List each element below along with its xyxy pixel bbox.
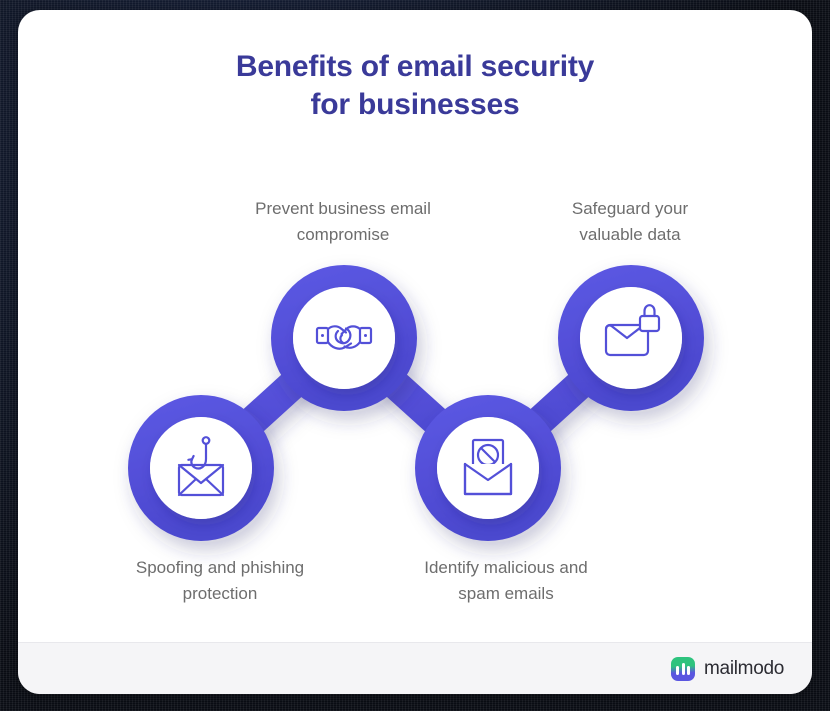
page-title-line-1: Benefits of email security [18, 48, 812, 86]
node-label-identify-malicious-and-spam-emails: Identify malicious and spam emails [376, 555, 636, 606]
node-label-line-1: Safeguard your [500, 196, 760, 222]
node-label-line-1: Prevent business email [213, 196, 473, 222]
brand-name: mailmodo [704, 658, 784, 680]
node-label-safeguard-your-valuable-data: Safeguard your valuable data [500, 196, 760, 247]
node-label-line-1: Spoofing and phishing [90, 555, 350, 581]
logo-bar-2 [682, 663, 685, 675]
mailmodo-brand[interactable]: mailmodo [671, 657, 784, 681]
node-label-spoofing-phishing-protection: Spoofing and phishing protection [90, 555, 350, 606]
page-title: Benefits of email security for businesse… [18, 48, 812, 125]
node-label-line-2: protection [90, 581, 350, 607]
disc-node-4 [580, 287, 682, 389]
page-title-line-2: for businesses [18, 86, 812, 124]
node-label-prevent-business-email-compromise: Prevent business email compromise [213, 196, 473, 247]
infographic-content: Benefits of email security for businesse… [18, 10, 812, 642]
mailmodo-logo-icon [671, 657, 695, 681]
benefits-flow-diagram: Spoofing and phishing protection Prevent… [18, 160, 812, 630]
node-label-line-2: spam emails [376, 581, 636, 607]
logo-bar-3 [687, 666, 690, 675]
node-label-line-2: compromise [213, 222, 473, 248]
infographic-card: Benefits of email security for businesse… [18, 10, 812, 694]
card-footer: mailmodo [18, 642, 812, 694]
logo-bar-1 [676, 666, 679, 675]
node-label-line-2: valuable data [500, 222, 760, 248]
node-label-line-1: Identify malicious and [376, 555, 636, 581]
disc-node-2 [293, 287, 395, 389]
